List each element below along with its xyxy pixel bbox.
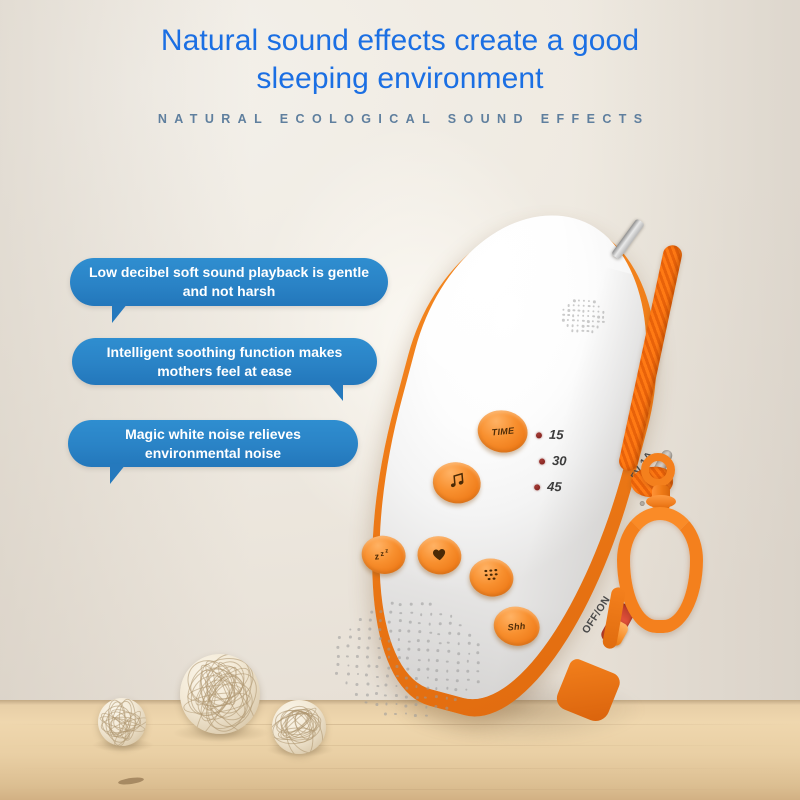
product-scene: Natural sound effects create a good slee… bbox=[0, 0, 800, 800]
timer-value: 30 bbox=[552, 453, 567, 468]
wood-grain-line bbox=[0, 789, 800, 790]
status-led-icon bbox=[639, 500, 645, 506]
timer-indicator-list: 15 30 45 bbox=[534, 426, 611, 507]
rattan-ball-small bbox=[98, 698, 146, 746]
heartbeat-womb-icon bbox=[431, 545, 449, 565]
timer-led-icon bbox=[539, 458, 545, 464]
feature-callout-bubble-1: Low decibel soft sound playback is gentl… bbox=[70, 258, 388, 306]
product-device: TIME z z z bbox=[355, 195, 695, 775]
heartbeat-button[interactable] bbox=[415, 533, 464, 577]
silicone-hook-loop bbox=[617, 507, 703, 633]
time-button-label: TIME bbox=[491, 425, 514, 437]
sleep-zzz-icon: z z z bbox=[373, 545, 395, 566]
music-button[interactable] bbox=[430, 459, 484, 507]
page-title: Natural sound effects create a good slee… bbox=[0, 22, 800, 99]
microphone-grille bbox=[561, 299, 609, 335]
shush-button[interactable]: Shh bbox=[491, 603, 543, 649]
rain-drops-icon bbox=[482, 567, 502, 588]
timer-value: 15 bbox=[549, 427, 564, 442]
timer-indicator-45: 45 bbox=[534, 478, 609, 507]
rain-sound-button[interactable] bbox=[467, 555, 516, 599]
music-note-icon bbox=[447, 472, 466, 494]
headline-line-2: sleeping environment bbox=[0, 60, 800, 98]
timer-value: 45 bbox=[547, 479, 562, 494]
svg-text:z: z bbox=[385, 548, 389, 554]
feature-callout-bubble-2: Intelligent soothing function makes moth… bbox=[72, 338, 377, 385]
device-control-panel: TIME z z z bbox=[322, 189, 694, 741]
timer-indicator-15: 15 bbox=[535, 426, 610, 455]
shush-button-label: Shh bbox=[507, 620, 526, 632]
svg-text:z: z bbox=[380, 550, 385, 557]
headline-line-1: Natural sound effects create a good bbox=[0, 22, 800, 60]
speaker-grille bbox=[334, 599, 490, 727]
sleep-mode-button[interactable]: z z z bbox=[359, 533, 408, 577]
rattan-ball-medium bbox=[272, 700, 326, 754]
page-subtitle: NATURAL ECOLOGICAL SOUND EFFECTS bbox=[0, 112, 800, 126]
timer-indicator-30: 30 bbox=[538, 452, 609, 480]
hook-ring bbox=[641, 453, 675, 487]
rattan-ball-large bbox=[180, 654, 260, 734]
timer-led-icon bbox=[536, 432, 542, 438]
feature-callout-bubble-3: Magic white noise relieves environmental… bbox=[68, 420, 358, 467]
time-button[interactable]: TIME bbox=[475, 407, 531, 456]
svg-text:z: z bbox=[374, 551, 380, 561]
timer-led-icon bbox=[534, 484, 540, 490]
